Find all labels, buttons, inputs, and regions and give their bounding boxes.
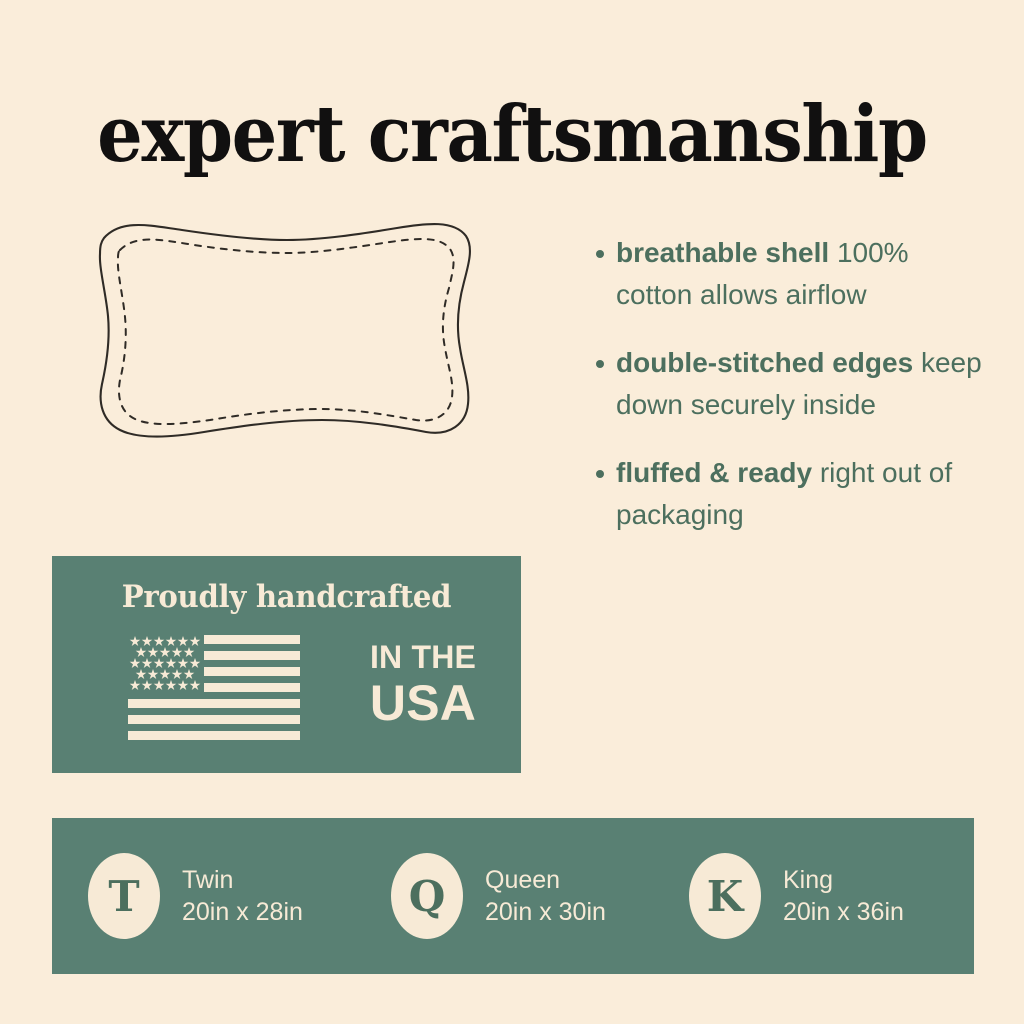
feature-lead: breathable shell <box>616 237 829 268</box>
size-initial-badge: Q <box>391 853 463 939</box>
feature-lead: fluffed & ready <box>616 457 812 488</box>
size-details: Twin 20in x 28in <box>182 864 303 928</box>
size-name: King <box>783 864 904 896</box>
pillow-illustration <box>82 196 482 496</box>
made-in-usa-text: IN THE USA <box>338 638 508 730</box>
size-dimensions: 20in x 30in <box>485 896 606 928</box>
size-options-bar: T Twin 20in x 28in Q Queen 20in x 30in K… <box>52 818 974 974</box>
size-name: Queen <box>485 864 606 896</box>
handcrafted-badge: Proudly handcrafted <box>52 556 521 773</box>
size-dimensions: 20in x 36in <box>783 896 904 928</box>
bullet-dot-icon <box>596 360 604 368</box>
feature-lead: double-stitched edges <box>616 347 913 378</box>
list-item: double-stitched edges keep down securely… <box>592 342 992 426</box>
list-item: fluffed & ready right out of packaging <box>592 452 992 536</box>
infographic-page: expert craftsmanship breathable shell 10… <box>0 0 1024 1024</box>
size-name: Twin <box>182 864 303 896</box>
usa-flag-icon <box>128 634 300 745</box>
size-details: King 20in x 36in <box>783 864 904 928</box>
size-option-twin: T Twin 20in x 28in <box>88 853 303 939</box>
size-details: Queen 20in x 30in <box>485 864 606 928</box>
badge-title: Proudly handcrafted <box>66 578 507 616</box>
feature-list: breathable shell 100% cotton allows airf… <box>592 232 992 536</box>
list-item: breathable shell 100% cotton allows airf… <box>592 232 992 316</box>
size-option-king: K King 20in x 36in <box>689 853 904 939</box>
page-title: expert craftsmanship <box>41 94 983 176</box>
usa-label: USA <box>338 676 508 730</box>
size-option-queen: Q Queen 20in x 30in <box>391 853 606 939</box>
in-the-label: IN THE <box>338 638 508 676</box>
bullet-dot-icon <box>596 470 604 478</box>
size-dimensions: 20in x 28in <box>182 896 303 928</box>
size-initial-badge: K <box>689 853 761 939</box>
size-initial-badge: T <box>88 853 160 939</box>
bullet-dot-icon <box>596 250 604 258</box>
